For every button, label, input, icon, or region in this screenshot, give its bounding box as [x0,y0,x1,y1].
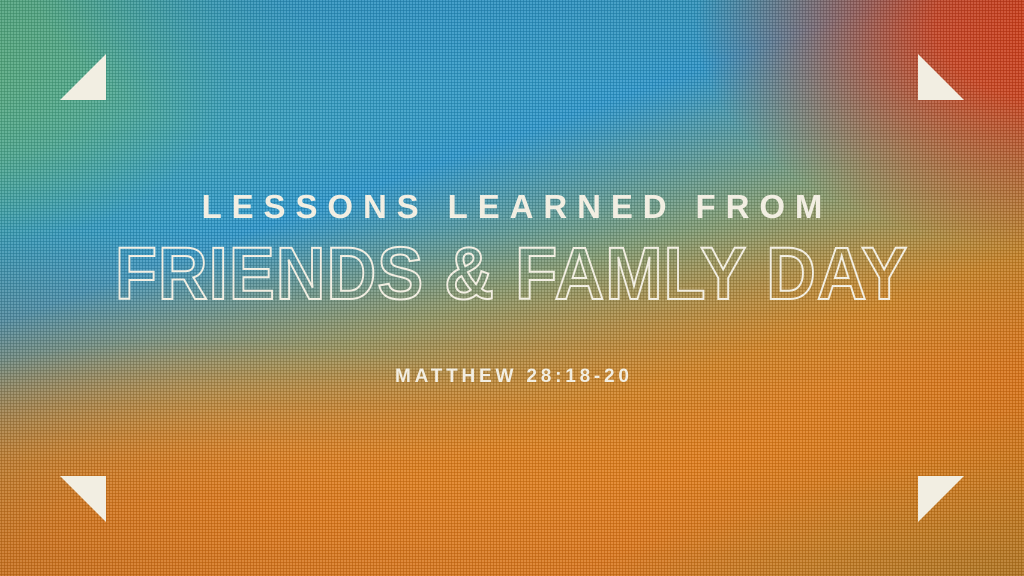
headline-text: FRIENDS & FAMLY DAY [115,237,908,311]
eyebrow-text: LESSONS LEARNED FROM [192,190,833,223]
slide-canvas: LESSONS LEARNED FROM FRIENDS & FAMLY DAY… [0,0,1024,576]
title-block: LESSONS LEARNED FROM FRIENDS & FAMLY DAY… [0,0,1024,576]
scripture-reference-text: MATTHEW 28:18-20 [391,367,633,386]
